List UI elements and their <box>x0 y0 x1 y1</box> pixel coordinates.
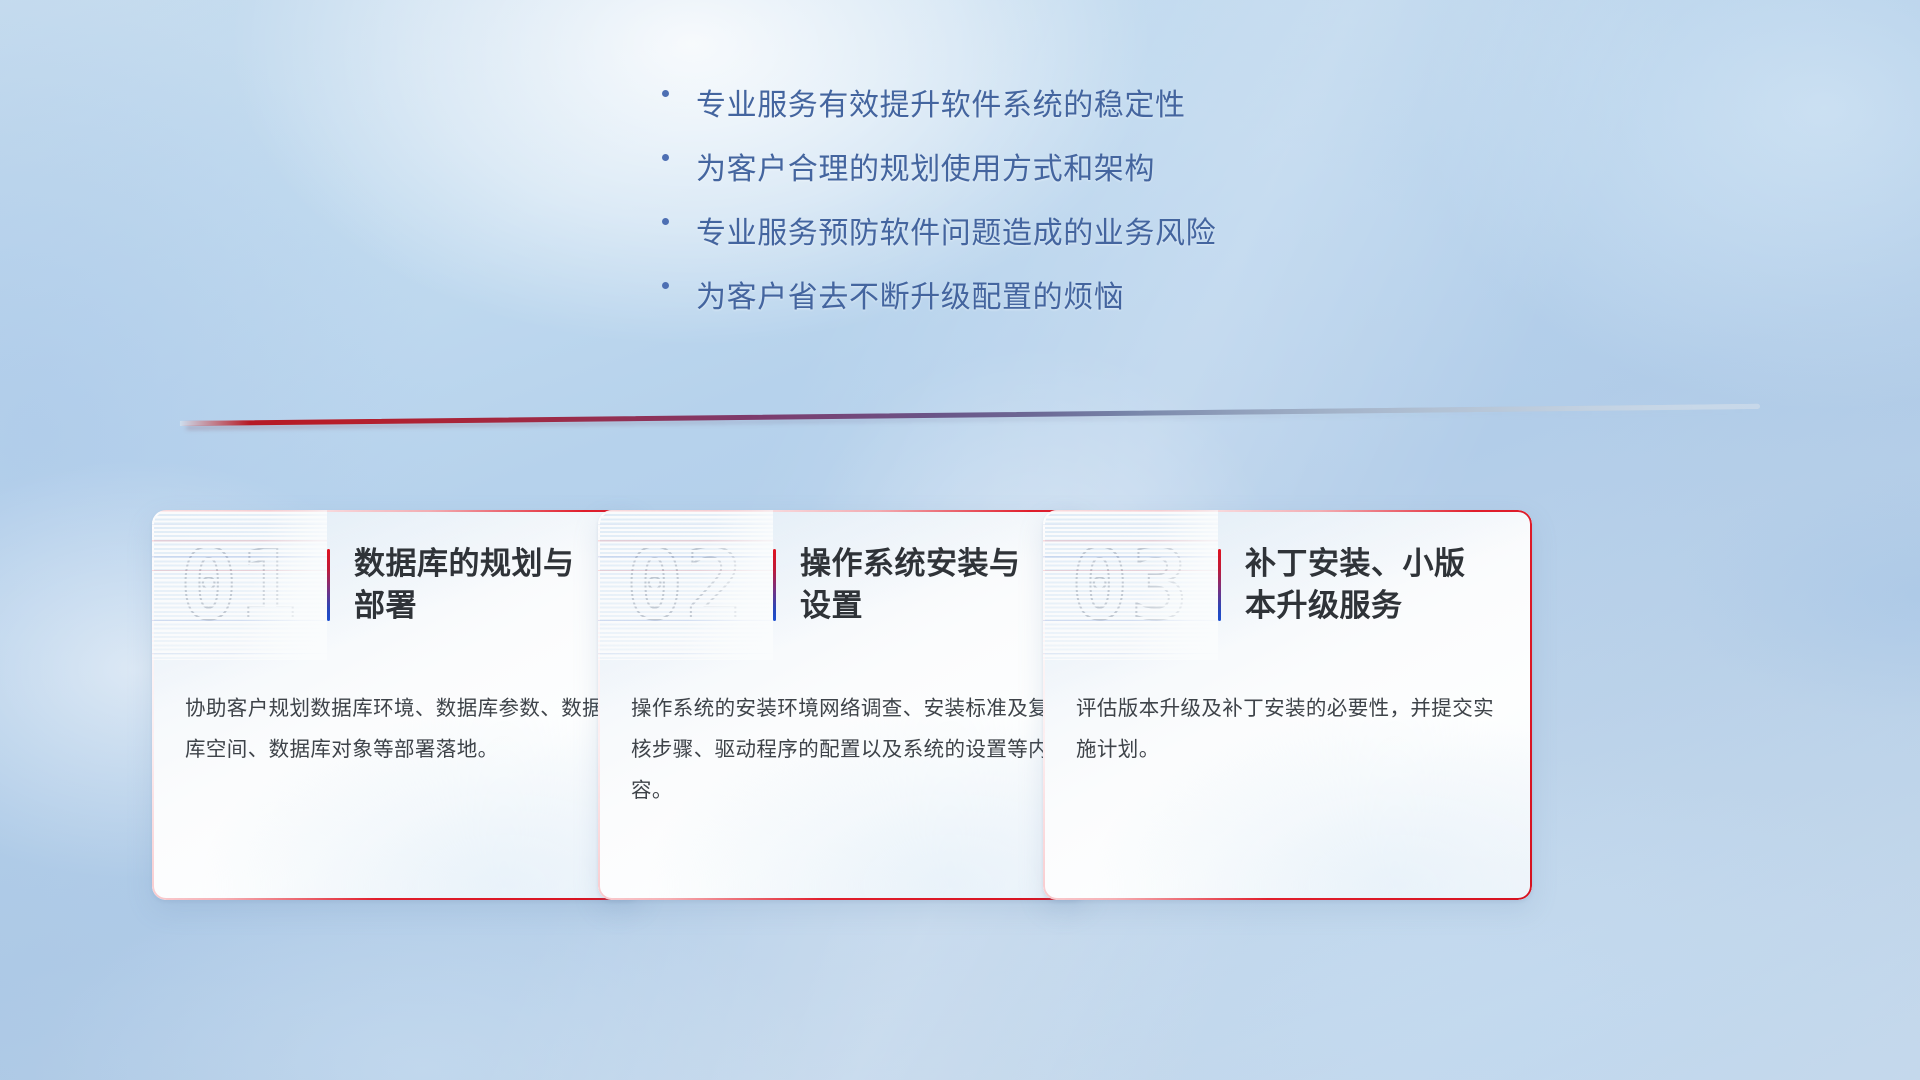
service-card[interactable]: 01 数据库的规划与部署 协助客户规划数据库环境、数据库参数、数据库空间、数据库… <box>152 510 641 900</box>
card-number-watermark: 02 <box>598 510 773 660</box>
card-body-text: 评估版本升级及补丁安装的必要性，并提交实施计划。 <box>1076 688 1496 770</box>
card-title: 数据库的规划与部署 <box>354 543 599 627</box>
card-header: 01 数据库的规划与部署 <box>152 510 641 660</box>
list-item: 为客户省去不断升级配置的烦恼 <box>662 280 1422 344</box>
bullet-text: 专业服务有效提升软件系统的稳定性 <box>696 88 1186 124</box>
card-title: 操作系统安装与设置 <box>800 543 1045 627</box>
card-header: 03 补丁安装、小版本升级服务 <box>1043 510 1532 660</box>
card-number-text: 01 <box>180 537 300 633</box>
service-card-group: 01 数据库的规划与部署 协助客户规划数据库环境、数据库参数、数据库空间、数据库… <box>0 510 1920 930</box>
card-number-watermark: 03 <box>1043 510 1218 660</box>
bullet-text: 为客户合理的规划使用方式和架构 <box>696 152 1155 188</box>
card-title-divider <box>327 549 330 621</box>
card-header: 02 操作系统安装与设置 <box>598 510 1087 660</box>
bullet-text: 专业服务预防软件问题造成的业务风险 <box>696 216 1216 252</box>
bullet-dot-icon <box>662 152 696 161</box>
card-title: 补丁安装、小版本升级服务 <box>1245 543 1490 627</box>
service-card[interactable]: 03 补丁安装、小版本升级服务 评估版本升级及补丁安装的必要性，并提交实施计划。 <box>1043 510 1532 900</box>
card-body-text: 操作系统的安装环境网络调查、安装标准及复核步骤、驱动程序的配置以及系统的设置等内… <box>631 688 1051 811</box>
card-number-text: 02 <box>626 537 746 633</box>
card-title-divider <box>773 549 776 621</box>
list-item: 为客户合理的规划使用方式和架构 <box>662 152 1422 216</box>
bullet-dot-icon <box>662 88 696 97</box>
list-item: 专业服务预防软件问题造成的业务风险 <box>662 216 1422 280</box>
bullet-text: 为客户省去不断升级配置的烦恼 <box>696 280 1124 316</box>
bullet-dot-icon <box>662 216 696 225</box>
card-title-divider <box>1218 549 1221 621</box>
divider-fade-left <box>180 420 250 426</box>
benefits-bullet-list: 专业服务有效提升软件系统的稳定性 为客户合理的规划使用方式和架构 专业服务预防软… <box>662 88 1422 344</box>
card-body-text: 协助客户规划数据库环境、数据库参数、数据库空间、数据库对象等部署落地。 <box>185 688 605 770</box>
service-card[interactable]: 02 操作系统安装与设置 操作系统的安装环境网络调查、安装标准及复核步骤、驱动程… <box>598 510 1087 900</box>
bullet-dot-icon <box>662 280 696 289</box>
list-item: 专业服务有效提升软件系统的稳定性 <box>662 88 1422 152</box>
card-number-watermark: 01 <box>152 510 327 660</box>
card-number-text: 03 <box>1071 537 1191 633</box>
